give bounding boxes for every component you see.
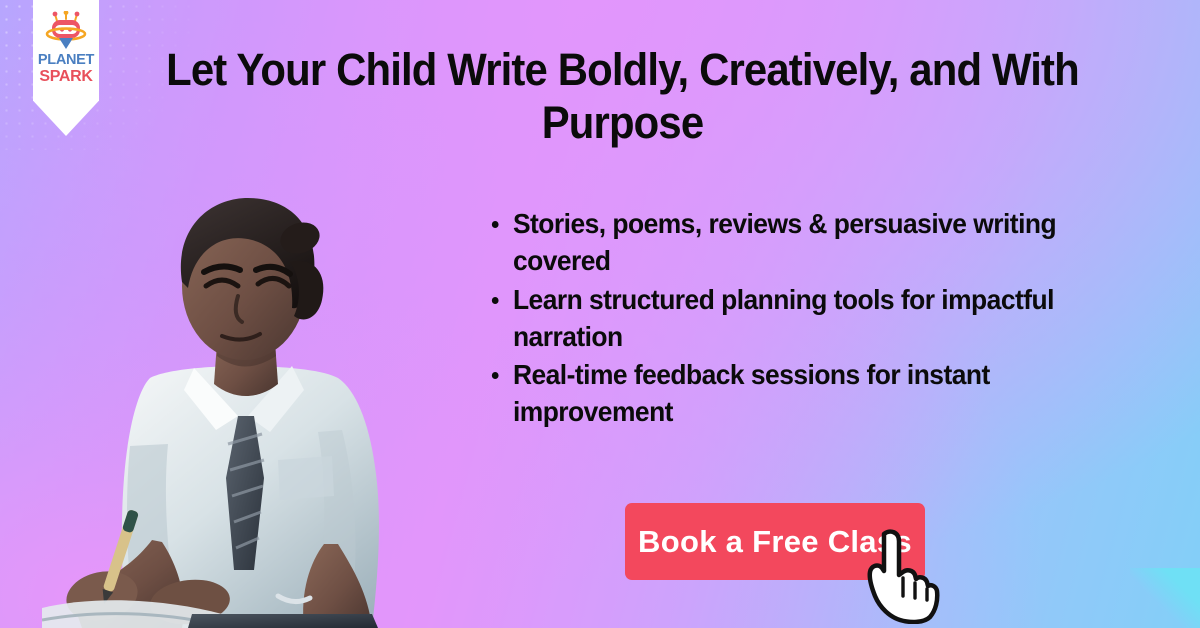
planetspark-logo-ribbon[interactable]: PLANET SPARK bbox=[33, 0, 99, 136]
list-item-label: Learn structured planning tools for impa… bbox=[513, 284, 1054, 352]
bullet-dot-icon bbox=[492, 221, 499, 228]
list-item: Real-time feedback sessions for instant … bbox=[488, 357, 1102, 431]
list-item: Learn structured planning tools for impa… bbox=[488, 282, 1102, 356]
list-item-label: Real-time feedback sessions for instant … bbox=[513, 359, 990, 427]
book-free-class-button[interactable]: Book a Free Class bbox=[625, 503, 925, 580]
logo-text-spark: SPARK bbox=[39, 69, 92, 85]
list-item-label: Stories, poems, reviews & persuasive wri… bbox=[513, 208, 1056, 276]
promo-banner: PLANET SPARK Let Your Child Write Boldly… bbox=[0, 0, 1200, 628]
logo-text-planet: PLANET bbox=[38, 53, 94, 68]
bullet-dot-icon bbox=[492, 372, 499, 379]
headline: Let Your Child Write Boldly, Creatively,… bbox=[164, 44, 1080, 149]
bullet-dot-icon bbox=[492, 297, 499, 304]
corner-accent-decoration bbox=[1130, 568, 1200, 628]
feature-bullet-list: Stories, poems, reviews & persuasive wri… bbox=[488, 206, 1128, 433]
list-item: Stories, poems, reviews & persuasive wri… bbox=[488, 206, 1102, 280]
student-writing-photo bbox=[42, 178, 432, 628]
planetspark-robot-icon bbox=[44, 11, 88, 51]
